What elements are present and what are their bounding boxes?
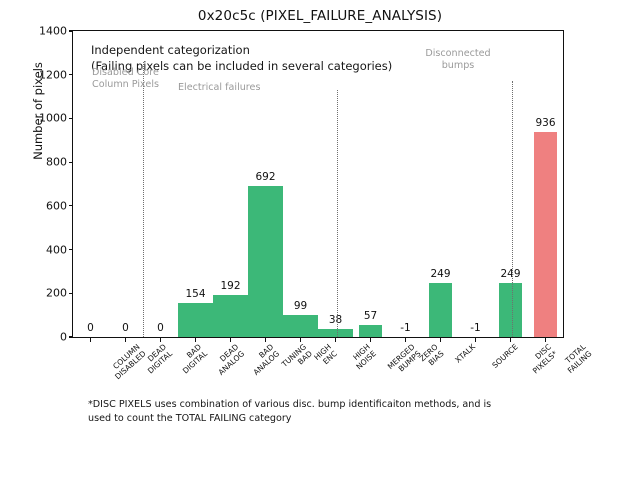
x-axis-tick-mark bbox=[475, 337, 476, 342]
x-axis-tick-label: MERGED BUMPS bbox=[386, 343, 423, 378]
x-axis-tick-mark bbox=[300, 337, 301, 342]
y-axis-tick-mark bbox=[69, 162, 74, 163]
x-axis-tick-mark bbox=[195, 337, 196, 342]
bar-value-label: 38 bbox=[329, 315, 342, 326]
y-axis-tick-label: 400 bbox=[27, 244, 67, 255]
y-axis-tick-mark bbox=[69, 249, 74, 250]
plot-area: 000154192692993857-1249-1249936Independe… bbox=[72, 30, 564, 338]
x-axis-tick-mark bbox=[160, 337, 161, 342]
annotation-electrical-failures: Electrical failures bbox=[178, 82, 260, 94]
y-axis-tick-mark bbox=[69, 336, 74, 337]
annotation-disabled-core-column-pixels: Disabled Core Column Pixels bbox=[92, 67, 159, 91]
bar-value-label: -1 bbox=[470, 323, 480, 334]
section-divider-line bbox=[143, 62, 144, 337]
plot-inner: 000154192692993857-1249-1249936Independe… bbox=[73, 31, 563, 337]
bar-value-label: 57 bbox=[364, 311, 377, 322]
bar-value-label: 249 bbox=[430, 269, 450, 280]
bar[interactable] bbox=[359, 325, 382, 337]
section-divider-line bbox=[337, 90, 338, 337]
annotation-disconnected-bumps: Disconnected bumps bbox=[425, 48, 490, 72]
y-axis-tick-label: 0 bbox=[27, 332, 67, 343]
bar-value-label: 0 bbox=[157, 323, 164, 334]
y-axis-tick-label: 800 bbox=[27, 157, 67, 168]
x-axis-tick-label: DISC PIXELS* bbox=[525, 343, 559, 376]
y-axis-tick-label: 600 bbox=[27, 200, 67, 211]
x-axis-tick-label: TOTAL FAILING bbox=[560, 343, 594, 376]
x-axis-tick-mark bbox=[510, 337, 511, 342]
y-axis-tick-label: 1200 bbox=[27, 69, 67, 80]
y-axis-tick-mark bbox=[69, 205, 74, 206]
bar[interactable] bbox=[429, 283, 452, 337]
x-axis-tick-label: BAD DIGITAL bbox=[175, 343, 209, 376]
bar-value-label: -1 bbox=[400, 323, 410, 334]
x-axis-tick-mark bbox=[405, 337, 406, 342]
x-axis-tick-label: HIGH NOISE bbox=[349, 343, 378, 372]
x-axis-tick-label: DEAD DIGITAL bbox=[140, 343, 174, 376]
y-axis-tick-label: 200 bbox=[27, 288, 67, 299]
y-axis-tick-mark bbox=[69, 118, 74, 119]
page-title: 0x20c5c (PIXEL_FAILURE_ANALYSIS) bbox=[0, 8, 640, 24]
x-axis-tick-mark bbox=[265, 337, 266, 342]
y-axis-tick-mark bbox=[69, 293, 74, 294]
chart-figure: 0x20c5c (PIXEL_FAILURE_ANALYSIS) Number … bbox=[0, 0, 640, 480]
bar-value-label: 0 bbox=[122, 323, 129, 334]
bar[interactable] bbox=[318, 329, 353, 337]
x-axis-tick-mark bbox=[440, 337, 441, 342]
y-axis-tick-label: 1400 bbox=[27, 26, 67, 37]
x-axis-tick-label: BAD ANALOG bbox=[246, 343, 282, 378]
bar-value-label: 936 bbox=[535, 118, 555, 129]
y-axis-tick-mark bbox=[69, 30, 74, 31]
bar[interactable] bbox=[213, 295, 248, 337]
bar-value-label: 99 bbox=[294, 301, 307, 312]
x-axis-tick-label: TUNING BAD bbox=[280, 343, 314, 376]
x-axis-tick-mark bbox=[545, 337, 546, 342]
bar-value-label: 192 bbox=[220, 281, 240, 292]
y-axis-tick-label: 1000 bbox=[27, 113, 67, 124]
footnote-text: *DISC PIXELS uses combination of various… bbox=[88, 398, 558, 426]
bar-value-label: 0 bbox=[87, 323, 94, 334]
bar[interactable] bbox=[248, 186, 283, 337]
x-axis-tick-mark bbox=[335, 337, 336, 342]
x-axis-tick-mark bbox=[90, 337, 91, 342]
y-axis-tick-mark bbox=[69, 74, 74, 75]
bar-value-label: 692 bbox=[255, 172, 275, 183]
x-axis-tick-mark bbox=[125, 337, 126, 342]
x-axis-tick-label: XTALK bbox=[454, 343, 477, 365]
x-axis-tick-label: SOURCE bbox=[491, 343, 520, 371]
bar[interactable] bbox=[534, 132, 557, 337]
x-axis-tick-mark bbox=[370, 337, 371, 342]
x-axis-tick-mark bbox=[230, 337, 231, 342]
bar[interactable] bbox=[499, 283, 522, 337]
x-axis-tick-label: DEAD ANALOG bbox=[211, 343, 247, 378]
x-axis-tick-label: HIGH ENC bbox=[313, 343, 340, 369]
bar-value-label: 249 bbox=[500, 269, 520, 280]
bar[interactable] bbox=[283, 315, 318, 337]
bar-value-label: 154 bbox=[185, 289, 205, 300]
x-axis-tick-label: ZERO BIAS bbox=[418, 343, 446, 371]
section-divider-line bbox=[512, 81, 513, 337]
bar[interactable] bbox=[178, 303, 213, 337]
